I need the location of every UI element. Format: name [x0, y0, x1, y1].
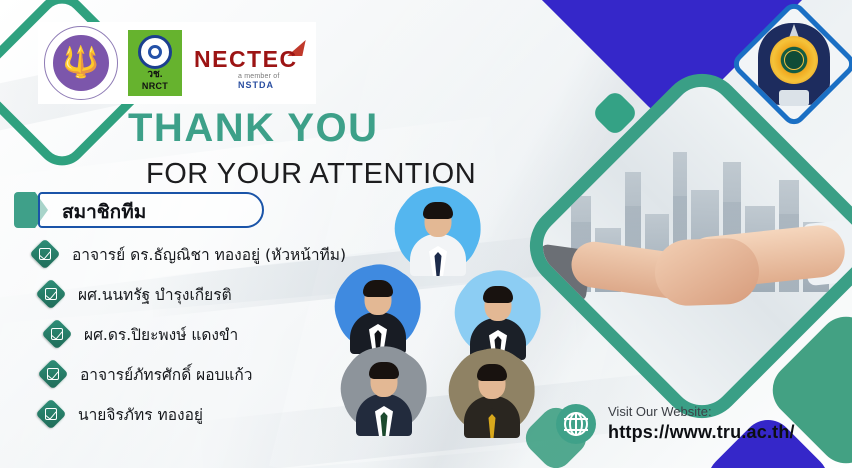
list-item: ผศ.ดร.ปิยะพงษ์ แดงขำ [30, 314, 370, 354]
list-item: นายจิรภัทร ทองอยู่ [30, 394, 370, 434]
checkbox-diamond-icon [36, 399, 66, 429]
list-item: อาจารย์ ดร.ธัญณิชา ทองอยู่ (หัวหน้าทีม) [30, 234, 370, 274]
list-item: ผศ.นนทรัฐ บำรุงเกียรติ [30, 274, 370, 314]
team-banner-label: สมาชิกทีม [62, 197, 146, 227]
thank-you-heading: THANK YOU [128, 108, 476, 148]
emblem-base [779, 90, 809, 106]
nectec-tagline-brand: NSTDA [238, 80, 274, 90]
nrct-thai-label: วช. [147, 70, 162, 81]
member-name: นายจิรภัทร ทองอยู่ [78, 402, 203, 427]
emblem-sun-icon [770, 36, 818, 84]
member-photo-3 [456, 272, 540, 356]
member-photo-4 [342, 348, 426, 432]
checkbox-diamond-icon [30, 239, 60, 269]
checkbox-diamond-icon [42, 319, 72, 349]
member-name: ผศ.นนทรัฐ บำรุงเกียรติ [78, 282, 232, 307]
nrct-wheel-icon [138, 35, 172, 69]
member-photo-1 [396, 188, 480, 272]
member-photo-2 [336, 266, 420, 350]
nrct-english-label: NRCT [142, 82, 168, 91]
nectec-tagline: a member of NSTDA [238, 73, 310, 90]
headline-block: THANK YOU FOR YOUR ATTENTION [128, 108, 476, 189]
team-member-list: อาจารย์ ดร.ธัญณิชา ทองอยู่ (หัวหน้าทีม) … [30, 234, 370, 434]
nectec-tagline-prefix: a member of [238, 73, 280, 80]
handshake-grip [654, 237, 760, 307]
nectec-logo: NECTEC a member of NSTDA [192, 32, 310, 94]
member-name: อาจารย์ภัทรศักดิ์ ผอบแก้ว [80, 362, 253, 387]
member-name: อาจารย์ ดร.ธัญณิชา ทองอยู่ (หัวหน้าทีม) [72, 242, 346, 267]
website-url[interactable]: https://www.tru.ac.th/ [608, 420, 795, 444]
trident-icon: 🔱 [62, 48, 99, 78]
team-banner: สมาชิกทีม [14, 192, 264, 228]
list-item: อาจารย์ภัทรศักดิ์ ผอบแก้ว [30, 354, 370, 394]
slide-canvas: 🔱 วช. NRCT NECTEC a member of NSTDA THAN… [0, 0, 852, 468]
attention-subheading: FOR YOUR ATTENTION [146, 160, 476, 189]
member-name: ผศ.ดร.ปิยะพงษ์ แดงขำ [84, 322, 238, 347]
member-photo-5 [450, 350, 534, 434]
nectec-wordmark: NECTEC [194, 46, 298, 73]
checkbox-diamond-icon [36, 279, 66, 309]
visit-label: Visit Our Website: [608, 404, 795, 420]
website-footer[interactable]: Visit Our Website: https://www.tru.ac.th… [556, 404, 795, 444]
logo-panel: 🔱 วช. NRCT NECTEC a member of NSTDA [38, 22, 316, 104]
checkbox-diamond-icon [38, 359, 68, 389]
globe-icon [556, 404, 596, 444]
website-text-block: Visit Our Website: https://www.tru.ac.th… [608, 404, 795, 444]
team-photo-cluster [330, 188, 560, 458]
university-seal-logo: 🔱 [44, 26, 118, 100]
nrct-logo: วช. NRCT [126, 28, 184, 98]
